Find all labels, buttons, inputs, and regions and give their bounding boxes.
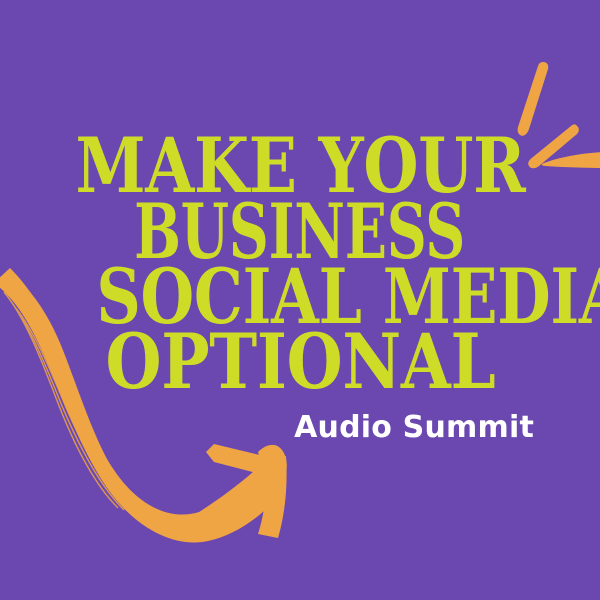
arrow-head-group	[196, 444, 287, 538]
subtitle-audio-summit: Audio Summit	[0, 411, 600, 445]
arrow-head-barb-upper	[206, 444, 272, 476]
headline-line-4: OPTIONAL	[0, 320, 600, 404]
arrow-head-shaft	[196, 458, 280, 530]
arrow-head-barb-lower	[258, 456, 287, 538]
arrow-head-drybrush-lines	[210, 456, 279, 536]
headline-line-4-text: OPTIONAL	[105, 324, 495, 400]
poster-canvas: MAKE YOUR BUSINESS SOCIAL MEDIA OPTIONAL…	[0, 0, 600, 600]
arrow-head-corner	[258, 445, 287, 480]
